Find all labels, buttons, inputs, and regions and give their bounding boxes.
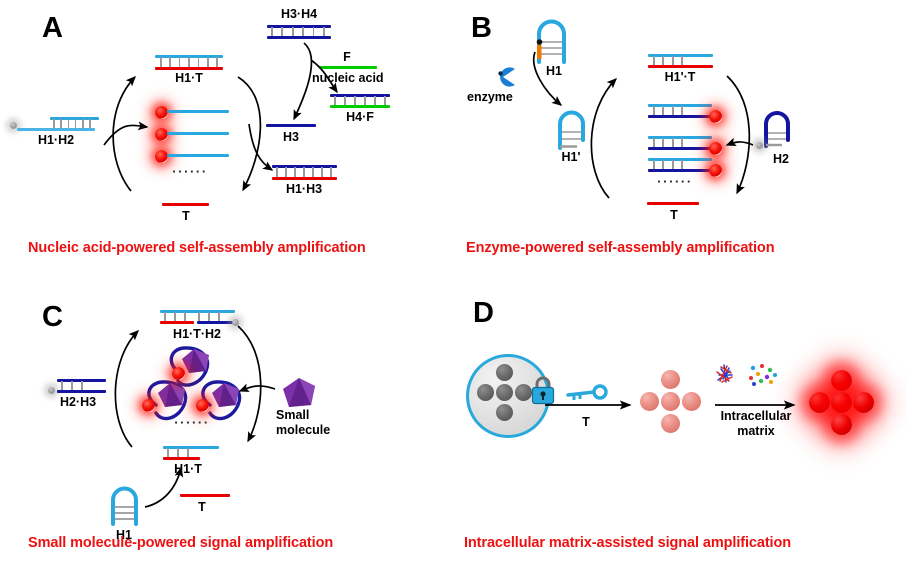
arrow-f-to-h4f xyxy=(311,60,337,92)
panel-d: D T xyxy=(453,291,907,583)
arrow-cycle-left xyxy=(115,331,138,447)
panel-c: C H1·T·H2 xyxy=(0,291,453,583)
arrow-to-products xyxy=(104,125,147,145)
arrow-h3h4-to-h3 xyxy=(294,43,311,119)
panel-a-caption: Nucleic acid-powered self-assembly ampli… xyxy=(28,240,366,256)
arrow-cycle-left xyxy=(591,79,616,198)
panel-b: B H1 enzyme xyxy=(453,0,907,291)
arrow-h1-t-form xyxy=(145,468,181,507)
panel-b-caption: Enzyme-powered self-assembly amplificati… xyxy=(466,240,774,256)
panel-a: A H1·H2 H1·T xyxy=(0,0,453,291)
arrow-regenerate xyxy=(113,77,135,191)
panel-c-caption: Small molecule-powered signal amplificat… xyxy=(28,535,333,551)
panel-d-caption: Intracellular matrix-assisted signal amp… xyxy=(464,535,791,551)
arrow-small-molecule-in xyxy=(240,386,275,391)
arrow-cycle-right xyxy=(727,76,749,193)
arrow-cycle-right xyxy=(238,326,261,441)
arrow-cycle-right xyxy=(238,77,260,190)
figure-root: A H1·H2 H1·T xyxy=(0,0,907,583)
arrow-h1-to-h1prime xyxy=(534,52,561,105)
